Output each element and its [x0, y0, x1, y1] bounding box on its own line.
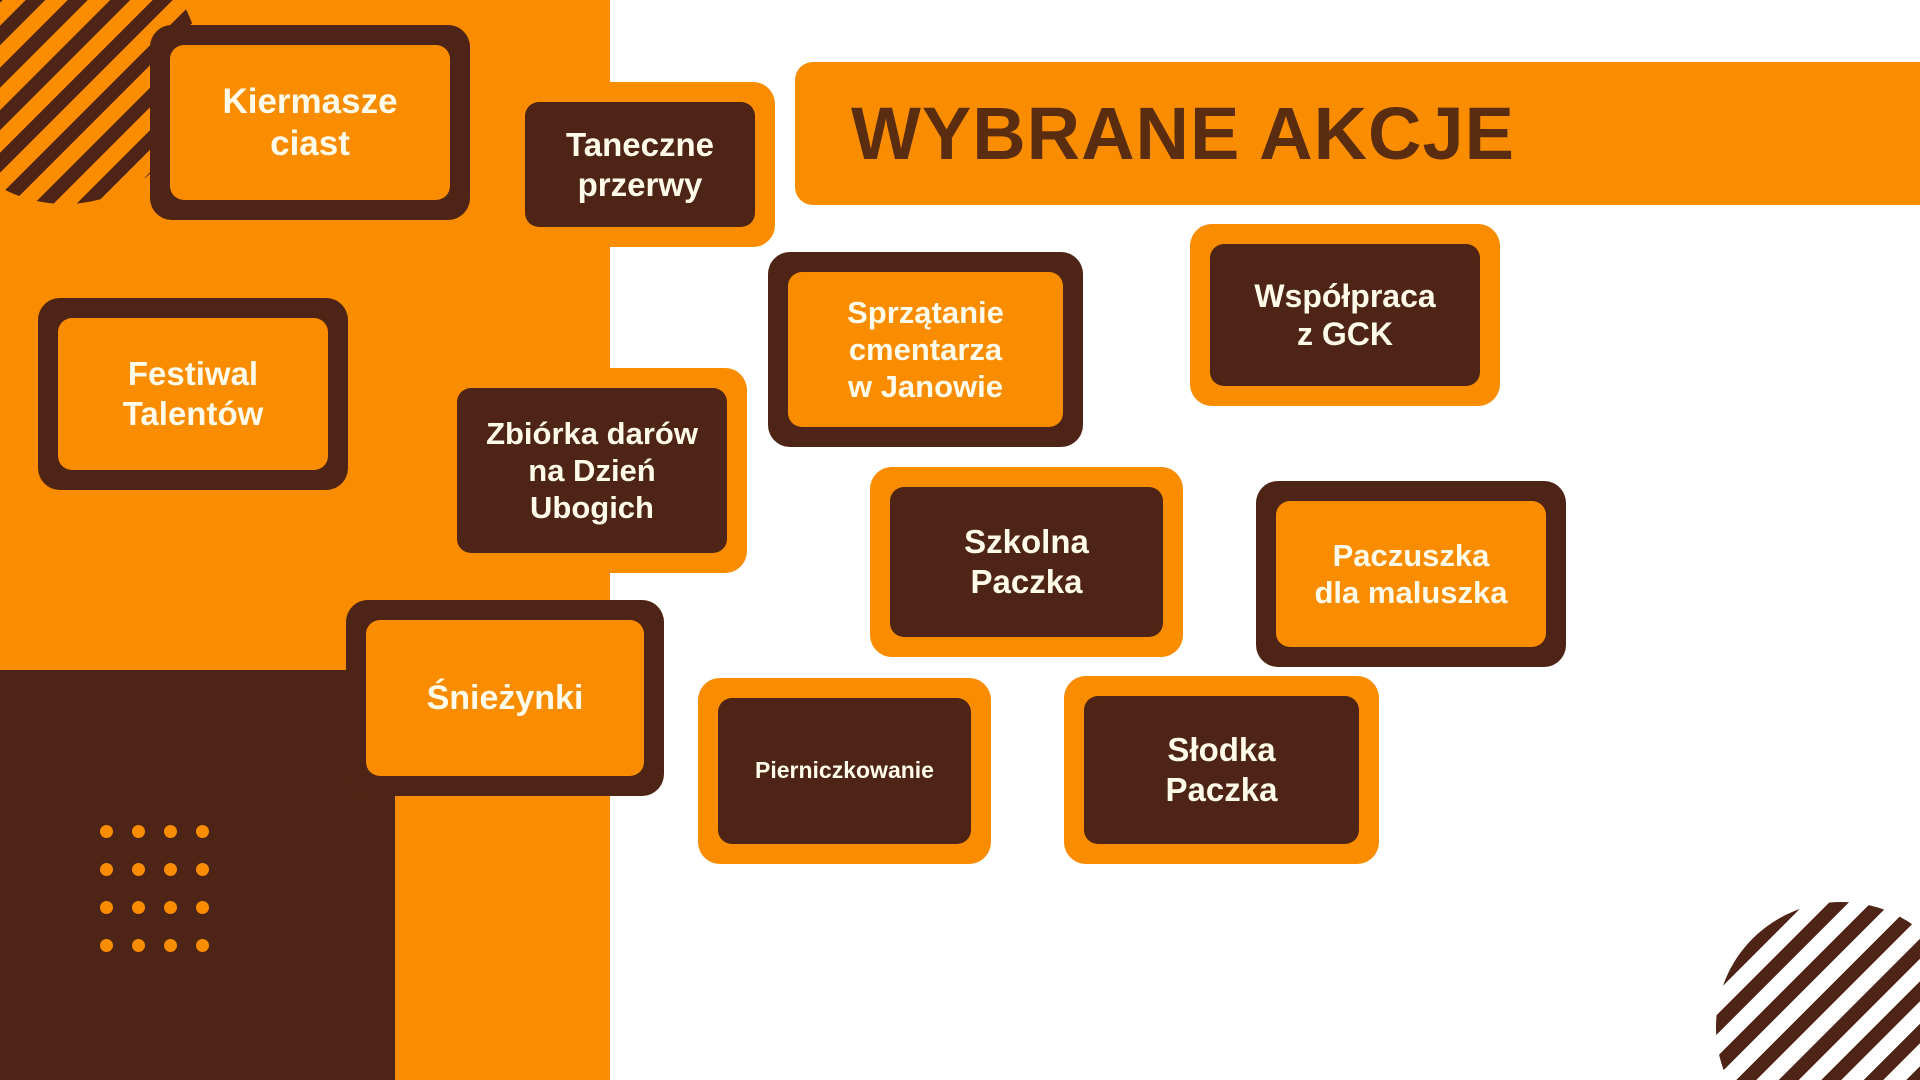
poster-canvas: WYBRANE AKCJE Kiermasze ciast Taneczne p…	[0, 0, 1920, 1080]
card-taneczne-przerwy[interactable]: Taneczne przerwy	[505, 82, 775, 247]
card-label-line2: Paczka	[1166, 770, 1278, 810]
card-label-line1: Zbiórka darów	[486, 415, 698, 452]
card-paczuszka-dla-maluszka[interactable]: Paczuszka dla maluszka	[1256, 481, 1566, 667]
card-zbiorka-darow[interactable]: Zbiórka darów na Dzień Ubogich	[437, 368, 747, 573]
card-label-wrapper: Kiermasze ciast	[170, 45, 450, 200]
dot	[164, 825, 177, 838]
card-label-line1: Paczuszka	[1333, 537, 1490, 574]
card-wspolpraca-z-gck[interactable]: Współpraca z GCK	[1190, 224, 1500, 406]
card-label-line2: ciast	[270, 123, 350, 165]
card-label-wrapper: Słodka Paczka	[1084, 696, 1359, 844]
card-szkolna-paczka[interactable]: Szkolna Paczka	[870, 467, 1183, 657]
dot	[196, 901, 209, 914]
card-label-line1: Taneczne	[566, 125, 714, 165]
card-sniezynki[interactable]: Śnieżynki	[346, 600, 664, 796]
card-slodka-paczka[interactable]: Słodka Paczka	[1064, 676, 1379, 864]
card-label-line1: Kiermasze	[222, 81, 397, 123]
card-label-line2: cmentarza	[849, 331, 1002, 368]
card-label-wrapper: Sprzątanie cmentarza w Janowie	[788, 272, 1063, 427]
page-title: WYBRANE AKCJE	[851, 91, 1515, 176]
card-label-line2: przerwy	[578, 165, 703, 205]
card-label-line1: Pierniczkowanie	[755, 757, 934, 785]
card-pierniczkowanie[interactable]: Pierniczkowanie	[698, 678, 991, 864]
card-label-line2: dla maluszka	[1315, 574, 1508, 611]
dot	[132, 825, 145, 838]
dot	[100, 901, 113, 914]
dot	[132, 901, 145, 914]
striped-circle-decoration-bottom-right	[1716, 902, 1920, 1080]
card-label-line1: Szkolna	[964, 522, 1089, 562]
card-label-line2: na Dzień	[528, 452, 655, 489]
card-sprzatanie-cmentarza[interactable]: Sprzątanie cmentarza w Janowie	[768, 252, 1083, 447]
card-label-line1: Festiwal	[128, 354, 258, 394]
dot	[100, 825, 113, 838]
card-label-wrapper: Zbiórka darów na Dzień Ubogich	[457, 388, 727, 553]
dot	[132, 939, 145, 952]
page-title-banner: WYBRANE AKCJE	[795, 62, 1920, 205]
dot	[196, 863, 209, 876]
card-label-line2: Talentów	[123, 394, 264, 434]
card-label-wrapper: Współpraca z GCK	[1210, 244, 1480, 386]
card-label-line3: w Janowie	[848, 368, 1003, 405]
dot	[100, 863, 113, 876]
card-label-wrapper: Śnieżynki	[366, 620, 644, 776]
card-label-line1: Śnieżynki	[427, 678, 584, 719]
card-label-line1: Sprzątanie	[847, 294, 1004, 331]
dot	[164, 939, 177, 952]
card-label-wrapper: Festiwal Talentów	[58, 318, 328, 470]
card-label-line2: z GCK	[1297, 315, 1393, 353]
card-label-wrapper: Paczuszka dla maluszka	[1276, 501, 1546, 647]
diagonal-stripes	[1716, 902, 1920, 1080]
dotted-brown-block	[0, 670, 395, 1080]
dot	[132, 863, 145, 876]
dot	[196, 825, 209, 838]
card-kiermasze-ciast[interactable]: Kiermasze ciast	[150, 25, 470, 220]
dot	[196, 939, 209, 952]
dot	[164, 901, 177, 914]
card-label-line3: Ubogich	[530, 489, 654, 526]
dot	[100, 939, 113, 952]
card-label-wrapper: Pierniczkowanie	[718, 698, 971, 844]
card-label-line1: Słodka	[1167, 730, 1275, 770]
card-label-line2: Paczka	[971, 562, 1083, 602]
dot-grid	[100, 825, 228, 977]
card-label-line1: Współpraca	[1254, 277, 1435, 315]
card-label-wrapper: Szkolna Paczka	[890, 487, 1163, 637]
dot	[164, 863, 177, 876]
card-label-wrapper: Taneczne przerwy	[525, 102, 755, 227]
card-festiwal-talentow[interactable]: Festiwal Talentów	[38, 298, 348, 490]
